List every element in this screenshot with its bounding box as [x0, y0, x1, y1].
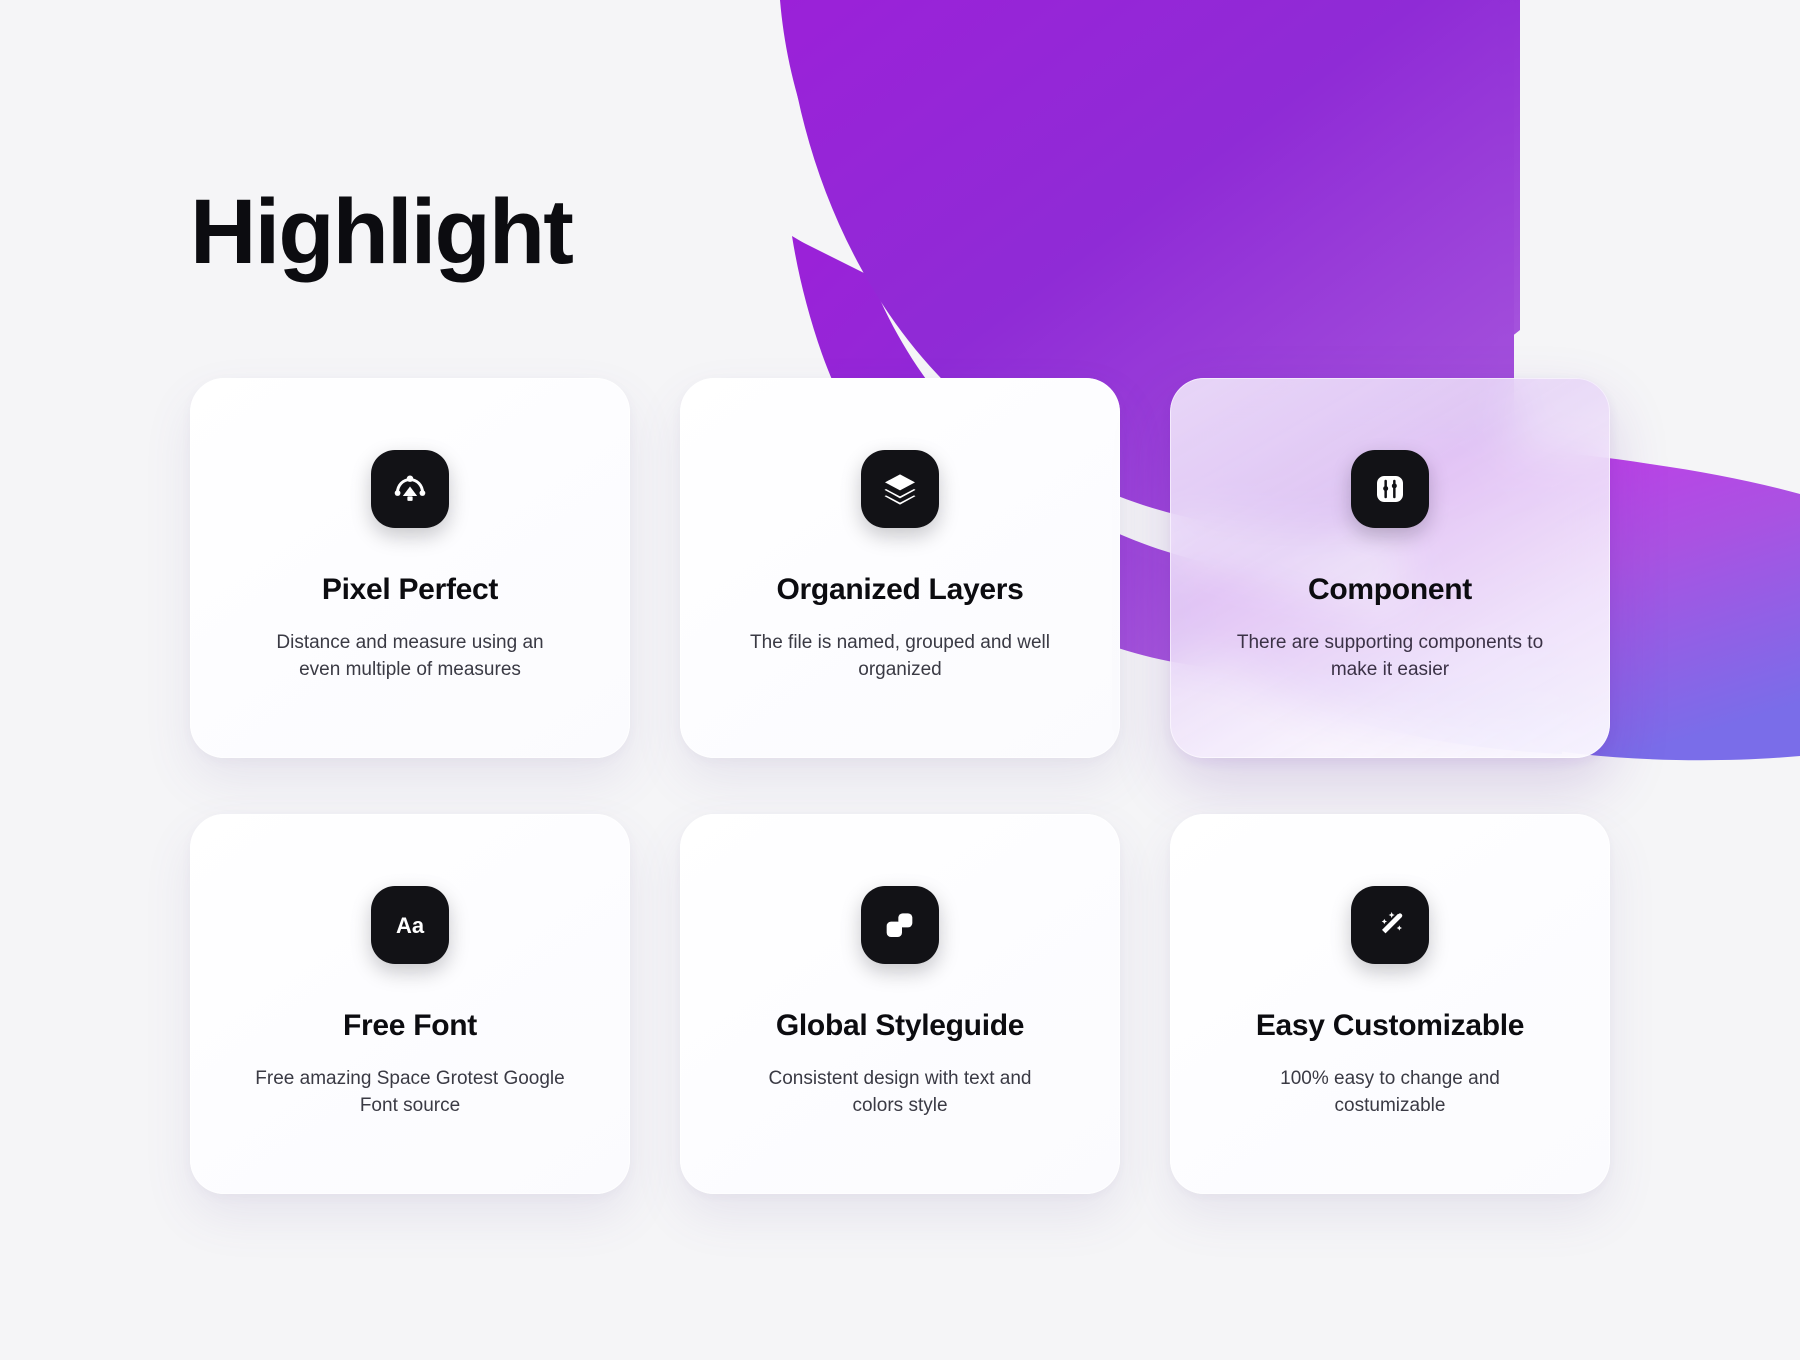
feature-card-grid: Pixel Perfect Distance and measure using… [190, 378, 1610, 1194]
feature-card-pixel-perfect[interactable]: Pixel Perfect Distance and measure using… [190, 378, 630, 758]
card-title: Easy Customizable [1256, 1008, 1524, 1044]
card-description: The file is named, grouped and well orga… [720, 630, 1080, 684]
feature-card-component[interactable]: Component There are supporting component… [1170, 378, 1610, 758]
feature-card-global-styleguide[interactable]: Global Styleguide Consistent design with… [680, 814, 1120, 1194]
card-title: Pixel Perfect [322, 572, 498, 608]
magic-wand-icon [1351, 886, 1429, 964]
feature-card-easy-customizable[interactable]: Easy Customizable 100% easy to change an… [1170, 814, 1610, 1194]
card-description: Consistent design with text and colors s… [720, 1066, 1080, 1120]
card-title: Global Styleguide [776, 1008, 1024, 1044]
pen-tool-icon [371, 450, 449, 528]
feature-card-free-font[interactable]: Aa Free Font Free amazing Space Grotest … [190, 814, 630, 1194]
card-title: Free Font [343, 1008, 477, 1044]
page-root: Highlight Pixel Perfect Distance and mea… [0, 0, 1800, 1360]
component-sliders-icon [1351, 450, 1429, 528]
typography-aa-icon: Aa [371, 886, 449, 964]
page-title: Highlight [190, 186, 572, 278]
top-purple-blob [786, 0, 1480, 386]
svg-text:Aa: Aa [396, 913, 425, 938]
feature-card-organized-layers[interactable]: Organized Layers The file is named, grou… [680, 378, 1120, 758]
card-description: 100% easy to change and costumizable [1210, 1066, 1570, 1120]
top-purple-blob-body [780, 0, 1520, 411]
copy-shapes-icon [861, 886, 939, 964]
card-title: Organized Layers [777, 572, 1024, 608]
card-description: Free amazing Space Grotest Google Font s… [230, 1066, 590, 1120]
card-description: Distance and measure using an even multi… [230, 630, 590, 684]
card-title: Component [1308, 572, 1472, 608]
layers-icon [861, 450, 939, 528]
card-description: There are supporting components to make … [1210, 630, 1570, 684]
